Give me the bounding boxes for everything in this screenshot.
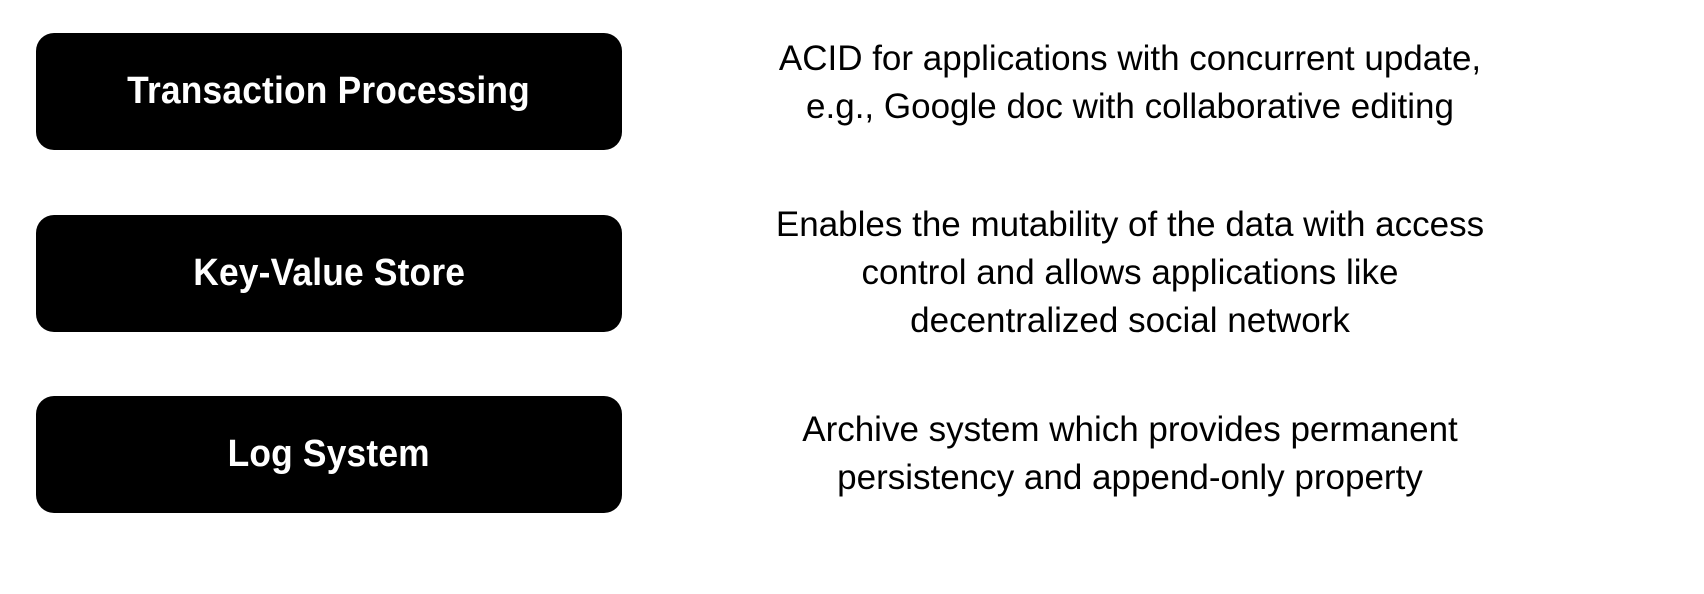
component-label-box-key-value-store[interactable]: Key-Value Store — [36, 215, 622, 332]
description-line: e.g., Google doc with collaborative edit… — [690, 83, 1570, 131]
description-line: control and allows applications like — [690, 249, 1570, 297]
diagram-canvas: Transaction Processing ACID for applicat… — [0, 0, 1704, 594]
component-label-text: Log System — [228, 435, 430, 475]
component-row: Key-Value Store Enables the mutability o… — [0, 215, 1704, 332]
description-line: persistency and append-only property — [690, 454, 1570, 502]
description-line: ACID for applications with concurrent up… — [690, 35, 1570, 83]
component-label-text: Key-Value Store — [193, 254, 465, 294]
component-description-log-system: Archive system which provides permanent … — [690, 406, 1570, 502]
component-row: Transaction Processing ACID for applicat… — [0, 33, 1704, 150]
component-row: Log System Archive system which provides… — [0, 396, 1704, 513]
component-description-key-value-store: Enables the mutability of the data with … — [690, 201, 1570, 345]
description-line: decentralized social network — [690, 297, 1570, 345]
component-label-text: Transaction Processing — [128, 72, 531, 112]
description-line: Enables the mutability of the data with … — [690, 201, 1570, 249]
component-description-transaction-processing: ACID for applications with concurrent up… — [690, 35, 1570, 131]
component-label-box-log-system[interactable]: Log System — [36, 396, 622, 513]
component-label-box-transaction-processing[interactable]: Transaction Processing — [36, 33, 622, 150]
description-line: Archive system which provides permanent — [690, 406, 1570, 454]
